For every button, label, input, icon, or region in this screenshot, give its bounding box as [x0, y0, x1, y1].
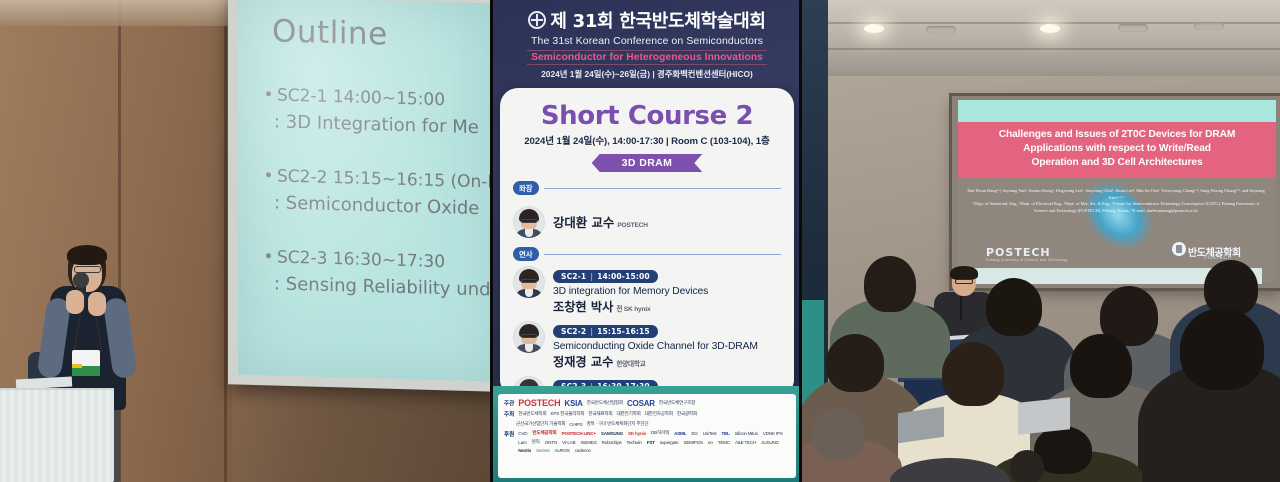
logo-cosar: COSAR: [627, 400, 655, 407]
supporter-item: 반도체공학회: [532, 430, 556, 436]
conference-date-venue: 2024년 1월 24일(수)~26일(금) | 경주화백컨벤션센터(HICO): [492, 68, 802, 80]
poster-panel: 제 31회 한국반도체학술대회 The 31st Korean Conferen…: [492, 0, 802, 482]
audience-head: [1204, 260, 1258, 316]
chair-person: 강대환 교수POSTECH: [513, 200, 781, 238]
conference-title-en: The 31st Korean Conference on Semiconduc…: [492, 35, 802, 47]
conference-title-kr: 제 31회 한국반도체학술대회: [550, 7, 765, 33]
audience: [802, 182, 1280, 482]
supporter-item: EO: [691, 431, 697, 436]
organizer-item: 한국광학회: [677, 411, 697, 417]
supporter-item: eo: [708, 440, 713, 445]
supporter-item: Semes: [536, 448, 549, 453]
supporter-item: VI-LAB: [562, 440, 575, 445]
slide-subline-3: : Sensing Reliability und: [274, 273, 486, 300]
talk-title: 3D integration for Memory Devices: [553, 286, 708, 297]
ceiling-light: [1040, 24, 1060, 33]
organizer-label: 주최: [504, 410, 514, 418]
supporter-logos: CVD 반도체공학회 POSTECH LINC+ SAMSUNG SK hyni…: [518, 430, 790, 453]
conference-title-row: 제 31회 한국반도체학술대회: [492, 7, 802, 33]
supporter-item: JUSUNG: [761, 440, 779, 445]
photo-right-auditorium: Challenges and Issues of 2T0C Devices fo…: [802, 0, 1280, 482]
slide-bullet-1: SC2-1 14:00~15:00: [266, 85, 486, 111]
audience-head: [812, 408, 864, 460]
speaker-label: 연사: [513, 247, 539, 261]
supporter-item: ONTO: [545, 440, 557, 445]
supporter-item: Techwin: [627, 440, 642, 445]
talk-row: SC2-1|14:00-15:00 3D integration for Mem…: [513, 266, 781, 316]
organizer-item: 경북 · 구미 반도체특화단지 추진단: [586, 421, 648, 427]
ceiling-right: [802, 0, 1280, 76]
supporter-item: ASML: [674, 431, 686, 436]
supporter-item: FST: [647, 440, 655, 445]
ceiling-vent: [1194, 22, 1224, 30]
supporter-item: SK hynix: [628, 431, 646, 436]
avatar: [513, 321, 545, 353]
audience-head: [1010, 450, 1044, 482]
section-speaker: 연사: [513, 247, 781, 261]
organizer-item: CHIPS: [569, 422, 582, 427]
sponsor-row-organizers-2: 군산국가산업단지 기술학회 CHIPS 경북 · 구미 반도체특화단지 추진단: [504, 421, 790, 427]
audience-head: [1180, 308, 1264, 390]
supporter-item: Silicon Mitus: [735, 431, 758, 436]
screenshot-stage: Outline SC2-1 14:00~15:00 : 3D Integrati…: [0, 0, 1280, 482]
sponsor-row-host: 주관 POSTECH KSIA 한국반도체산업협회 COSAR 한국반도체연구조…: [504, 399, 790, 407]
audience-head: [942, 342, 1004, 406]
logo-ksia: KSIA: [564, 400, 582, 407]
slide-subline-2: : Semiconductor Oxide: [274, 192, 486, 219]
talk-affiliation: 전 SK hynix: [616, 306, 650, 313]
wall-seam: [224, 0, 227, 482]
supporter-label: 후원: [504, 430, 514, 438]
talk-title: Semiconducting Oxide Channel for 3D-DRAM: [553, 341, 758, 352]
divider-line: [544, 188, 781, 189]
supporter-item: SAMSUNG: [601, 431, 623, 436]
chair-name: 강대환 교수: [553, 215, 614, 230]
talk-code: SC2-1: [561, 272, 586, 281]
bullet-dot-icon: [266, 172, 271, 177]
audience-head: [826, 334, 884, 392]
conference-header: 제 31회 한국반도체학술대회 The 31st Korean Conferen…: [492, 0, 802, 80]
talk-time: 14:00-15:00: [597, 272, 650, 281]
supporter-item: CVD: [518, 431, 527, 436]
slide-title-line-3: Operation and 3D Cell Architectures: [1031, 157, 1202, 168]
short-course-when-where: 2024년 1월 24일(수), 14:00-17:30 | Room C (1…: [513, 133, 781, 147]
organizer-item: 대한전자공학회: [645, 411, 673, 417]
bullet-dot-icon: [266, 91, 271, 96]
slide-subline-1: : 3D Integration for Me: [274, 111, 486, 138]
sponsor-row-organizers: 주최 한국반도체학회 KPS 한국물리학회 한국재료학회 대한전기학회 대한전자…: [504, 410, 790, 418]
bullet-dot-icon: [266, 253, 271, 258]
talk-speaker: 조창현 박사: [553, 300, 613, 314]
short-course-topic-wrap: 3D DRAM: [513, 154, 781, 172]
sponsors-card: 주관 POSTECH KSIA 한국반도체산업협회 COSAR 한국반도체연구조…: [498, 394, 796, 478]
host-label: 주관: [504, 399, 514, 407]
cosar-kr: 한국반도체연구조합: [659, 400, 695, 406]
ceiling-vent: [1118, 24, 1148, 32]
slide-title-line-1: Challenges and Issues of 2T0C Devices fo…: [999, 129, 1236, 140]
talk-affiliation: 한양대학교: [616, 361, 645, 368]
supporter-item: Lam: [518, 440, 526, 445]
panel-divider: [799, 0, 802, 482]
audience-head: [864, 256, 916, 312]
chair-label: 좌장: [513, 181, 539, 195]
avatar: [513, 206, 545, 238]
talk-row: SC2-2|15:15-16:15 Semiconducting Oxide C…: [513, 321, 781, 371]
supporter-item: Nextin: [518, 448, 531, 453]
talk-code: SC2-2: [561, 327, 586, 336]
supporter-item: TEMC: [718, 440, 730, 445]
chair-affiliation: POSTECH: [617, 222, 647, 229]
audience-head: [986, 278, 1042, 336]
supporter-item: A&E TECH: [735, 440, 756, 445]
supporter-item: ISEMES: [580, 440, 596, 445]
talk-time: 15:15-16:15: [597, 327, 650, 336]
talk-code-pill: SC2-2|15:15-16:15: [553, 325, 658, 338]
slide-mint-band: [958, 100, 1276, 122]
organizer-item: 대한전기학회: [616, 411, 640, 417]
supporter-item: Robochips: [602, 440, 622, 445]
short-course-heading: Short Course 2: [513, 101, 781, 131]
supporter-item: DB하이텍: [651, 430, 669, 436]
audience-head: [1070, 334, 1132, 398]
avatar: [513, 266, 545, 298]
photo-left-lecture: Outline SC2-1 14:00~15:00 : 3D Integrati…: [0, 0, 492, 482]
conference-tagline: Semiconductor for Heterogeneous Innovati…: [527, 50, 767, 65]
supporter-item: SEMIPOS: [683, 440, 703, 445]
ksc-logo-icon: [528, 11, 546, 29]
supporter-item: cadence: [575, 448, 591, 453]
organizer-item: KPS 한국물리학회: [550, 411, 584, 417]
short-course-card: Short Course 2 2024년 1월 24일(수), 14:00-17…: [500, 88, 794, 394]
slide-title-outline: Outline: [272, 13, 486, 55]
supporter-item: POSTECH LINC+: [562, 431, 596, 436]
ceiling-vent: [926, 26, 956, 34]
projection-screen-left: Outline SC2-1 14:00~15:00 : 3D Integrati…: [238, 0, 492, 382]
supporter-item: 원익: [532, 439, 540, 445]
supporter-item: UniTest: [703, 431, 717, 436]
sponsor-row-supporters: 후원 CVD 반도체공학회 POSTECH LINC+ SAMSUNG SK h…: [504, 430, 790, 453]
slide-title-line-2: Applications with respect to Write/Read: [1023, 143, 1211, 154]
divider-line: [544, 254, 781, 255]
slide-bullet-2: SC2-2 15:15~16:15 (On-li: [266, 166, 486, 192]
organizer-item: 한국반도체학회: [518, 411, 546, 417]
talk-code-pill: SC2-1|14:00-15:00: [553, 270, 658, 283]
slide-title-lines: Challenges and Issues of 2T0C Devices fo…: [958, 122, 1276, 170]
supporter-item: TEL: [721, 431, 729, 436]
slide-title-band: Challenges and Issues of 2T0C Devices fo…: [958, 122, 1276, 178]
audience-laptop: [1018, 397, 1070, 434]
panel-divider: [490, 0, 493, 482]
ceiling-light: [864, 24, 884, 33]
supporter-item: VDNK IPS: [763, 431, 783, 436]
section-chair: 좌장: [513, 181, 781, 195]
talk-speaker: 정재경 교수: [553, 355, 613, 369]
supporter-item: supergate: [660, 440, 679, 445]
slide-bullet-3: SC2-3 16:30~17:30: [266, 247, 486, 273]
organizer-item: 한국재료학회: [588, 411, 612, 417]
ksia-kr: 한국반도체산업협회: [587, 400, 623, 406]
supporter-item: AUROS: [554, 448, 569, 453]
organizer-item: 군산국가산업단지 기술학회: [516, 421, 565, 427]
logo-postech: POSTECH: [518, 400, 560, 407]
front-table: [0, 390, 114, 482]
short-course-topic: 3D DRAM: [592, 154, 703, 172]
